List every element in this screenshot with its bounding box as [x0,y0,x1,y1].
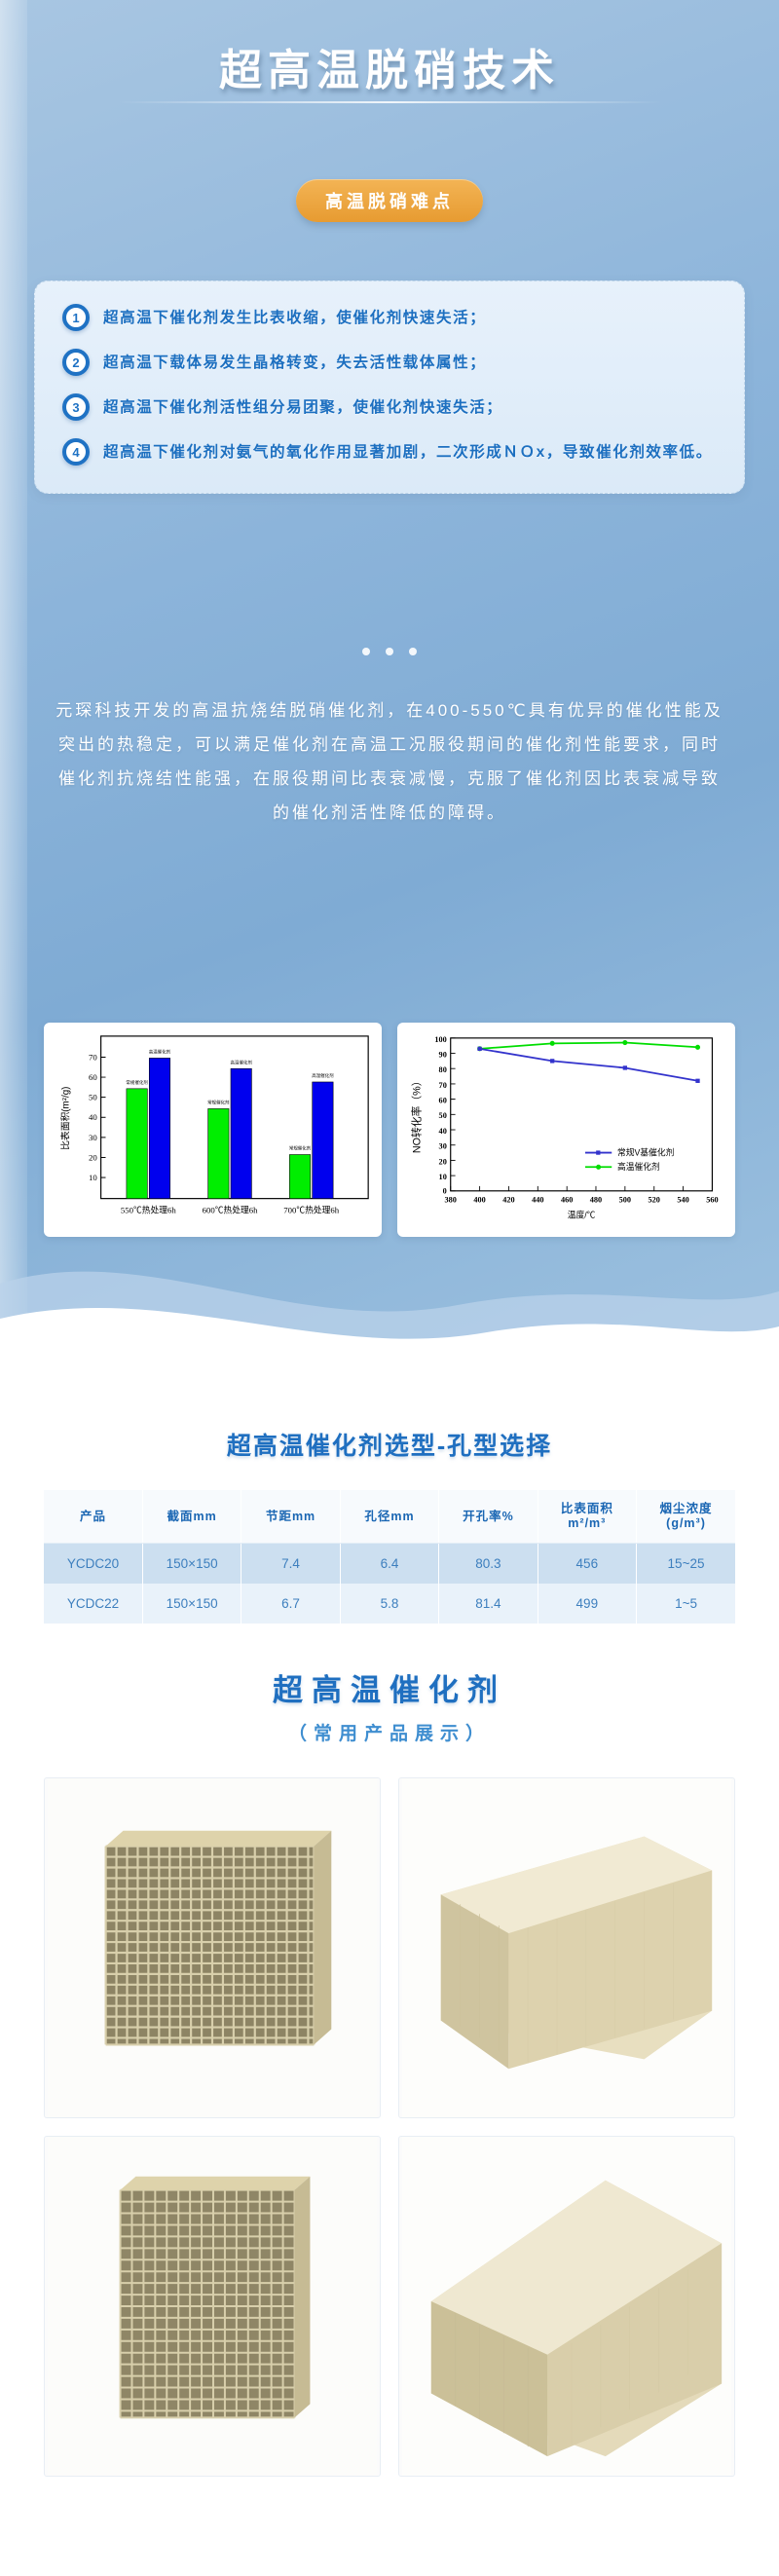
table-header-row: 产品 截面mm 节距mm 孔径mm 开孔率% 比表面积 m²/m³ 烟尘浓度 (… [44,1490,735,1544]
column-header-specific-area-main: 比表面积 [561,1502,613,1515]
svg-text:70: 70 [89,1052,97,1062]
column-header-dust-unit: (g/m³) [666,1516,706,1530]
infographic-page: 超高温脱硝技术 高温脱硝难点 1 超高温下催化剂发生比表收缩，使催化剂快速失活；… [0,0,779,2576]
svg-text:高温催化剂: 高温催化剂 [149,1049,171,1056]
product-photo-2[interactable] [398,1777,735,2118]
svg-text:40: 40 [439,1127,447,1136]
list-item: 2 超高温下载体易发生晶格转变，失去活性载体属性； [62,351,717,376]
cell-dust-concentration: 1~5 [637,1584,735,1624]
svg-text:高温催化剂: 高温催化剂 [312,1072,334,1079]
problem-card: 1 超高温下催化剂发生比表收缩，使催化剂快速失活； 2 超高温下载体易发生晶格转… [34,280,745,494]
list-item-label: 超高温下催化剂对氨气的氧化作用显著加剧，二次形成ＮＯx，导致催化剂效率低。 [103,440,713,466]
product-photo-1[interactable] [44,1777,381,2118]
svg-text:60: 60 [89,1072,97,1082]
svg-text:100: 100 [434,1035,446,1044]
column-header-dust-concentration: 烟尘浓度 (g/m³) [637,1490,735,1544]
cell-section: 150×150 [142,1584,241,1624]
svg-text:50: 50 [439,1111,447,1120]
list-item-label: 超高温下载体易发生晶格转变，失去活性载体属性； [103,351,486,376]
intro-paragraph: 元琛科技开发的高温抗烧结脱硝催化剂，在400-550℃具有优异的催化性能及突出的… [54,693,725,830]
column-header-specific-area: 比表面积 m²/m³ [538,1490,636,1544]
list-item: 4 超高温下催化剂对氨气的氧化作用显著加剧，二次形成ＮＯx，导致催化剂效率低。 [62,440,717,466]
product-photo-4[interactable] [398,2136,735,2477]
list-item-label: 超高温下催化剂活性组分易团聚，使催化剂快速失活； [103,395,502,421]
svg-text:NO转化率（%）: NO转化率（%） [411,1076,424,1154]
list-item: 1 超高温下催化剂发生比表收缩，使催化剂快速失活； [62,306,717,331]
cell-specific-area: 499 [538,1584,636,1624]
column-header-section: 截面mm [142,1490,241,1544]
svg-text:60: 60 [439,1097,447,1105]
svg-text:10: 10 [89,1173,97,1182]
cell-section: 150×150 [142,1544,241,1585]
column-header-product: 产品 [44,1490,142,1544]
cell-open-ratio: 80.3 [439,1544,538,1585]
svg-text:90: 90 [439,1050,447,1059]
svg-text:常规催化剂: 常规催化剂 [289,1145,312,1152]
svg-text:30: 30 [439,1142,447,1151]
list-item: 3 超高温下催化剂活性组分易团聚，使催化剂快速失活； [62,395,717,421]
column-header-hole-diameter: 孔径mm [340,1490,438,1544]
svg-text:常规催化剂: 常规催化剂 [207,1100,230,1106]
title-divider [117,101,662,103]
spec-table-wrapper: 产品 截面mm 节距mm 孔径mm 开孔率% 比表面积 m²/m³ 烟尘浓度 (… [44,1490,735,1624]
column-header-open-ratio: 开孔率% [439,1490,538,1544]
table-row: YCDC20 150×150 7.4 6.4 80.3 456 15~25 [44,1544,735,1585]
lower-section: 超高温催化剂选型-孔型选择 产品 截面mm 节距mm 孔径mm 开孔率% 比表面… [0,1354,779,2576]
honeycomb-block-angled-corner-image [399,2137,734,2476]
column-header-specific-area-unit: m²/m³ [568,1516,606,1530]
gallery-subheading: （常用产品展示） [0,1719,779,1745]
cell-hole-diameter: 5.8 [340,1584,438,1624]
svg-text:10: 10 [439,1173,447,1181]
svg-text:70: 70 [439,1081,447,1090]
product-gallery [44,1777,735,2477]
list-number: 4 [62,438,90,466]
decorative-dots [0,643,779,660]
svg-text:50: 50 [89,1093,97,1102]
svg-text:高温催化剂: 高温催化剂 [231,1059,253,1065]
svg-text:20: 20 [89,1152,97,1162]
svg-text:40: 40 [89,1112,97,1122]
svg-text:高温催化剂: 高温催化剂 [617,1161,660,1172]
table-row: YCDC22 150×150 6.7 5.8 81.4 499 1~5 [44,1584,735,1624]
list-number: 3 [62,393,90,421]
svg-text:30: 30 [89,1133,97,1142]
list-number: 1 [62,304,90,331]
cell-hole-diameter: 6.4 [340,1544,438,1585]
svg-text:常规催化剂: 常规催化剂 [126,1079,148,1086]
dot-icon [409,648,417,655]
svg-text:常规V基催化剂: 常规V基催化剂 [617,1146,675,1157]
cell-pitch: 7.4 [241,1544,340,1585]
spec-table: 产品 截面mm 节距mm 孔径mm 开孔率% 比表面积 m²/m³ 烟尘浓度 (… [44,1490,735,1624]
cell-open-ratio: 81.4 [439,1584,538,1624]
status-badge: 高温脱硝难点 [296,179,483,222]
cell-product: YCDC20 [44,1544,142,1585]
svg-text:20: 20 [439,1157,447,1166]
cell-specific-area: 456 [538,1544,636,1585]
svg-text:80: 80 [439,1065,447,1074]
honeycomb-block-front-dark-image [45,1778,380,2117]
column-header-dust-main: 烟尘浓度 [660,1502,713,1515]
svg-text:比表面积(m²/g): 比表面积(m²/g) [59,1087,72,1150]
column-header-pitch: 节距mm [241,1490,340,1544]
cell-dust-concentration: 15~25 [637,1544,735,1585]
dot-icon [386,648,393,655]
cell-product: YCDC22 [44,1584,142,1624]
honeycomb-block-front-tall-image [45,2137,380,2476]
hero-section: 超高温脱硝技术 高温脱硝难点 1 超高温下催化剂发生比表收缩，使催化剂快速失活；… [0,0,779,1383]
honeycomb-block-angled-light-image [399,1778,734,2117]
list-item-label: 超高温下催化剂发生比表收缩，使催化剂快速失活； [103,306,486,331]
page-title: 超高温脱硝技术 [0,35,779,97]
cell-pitch: 6.7 [241,1584,340,1624]
table-section-heading: 超高温催化剂选型-孔型选择 [0,1427,779,1462]
product-photo-3[interactable] [44,2136,381,2477]
gallery-heading: 超高温催化剂 [0,1665,779,1709]
dot-icon [362,648,370,655]
list-number: 2 [62,349,90,376]
